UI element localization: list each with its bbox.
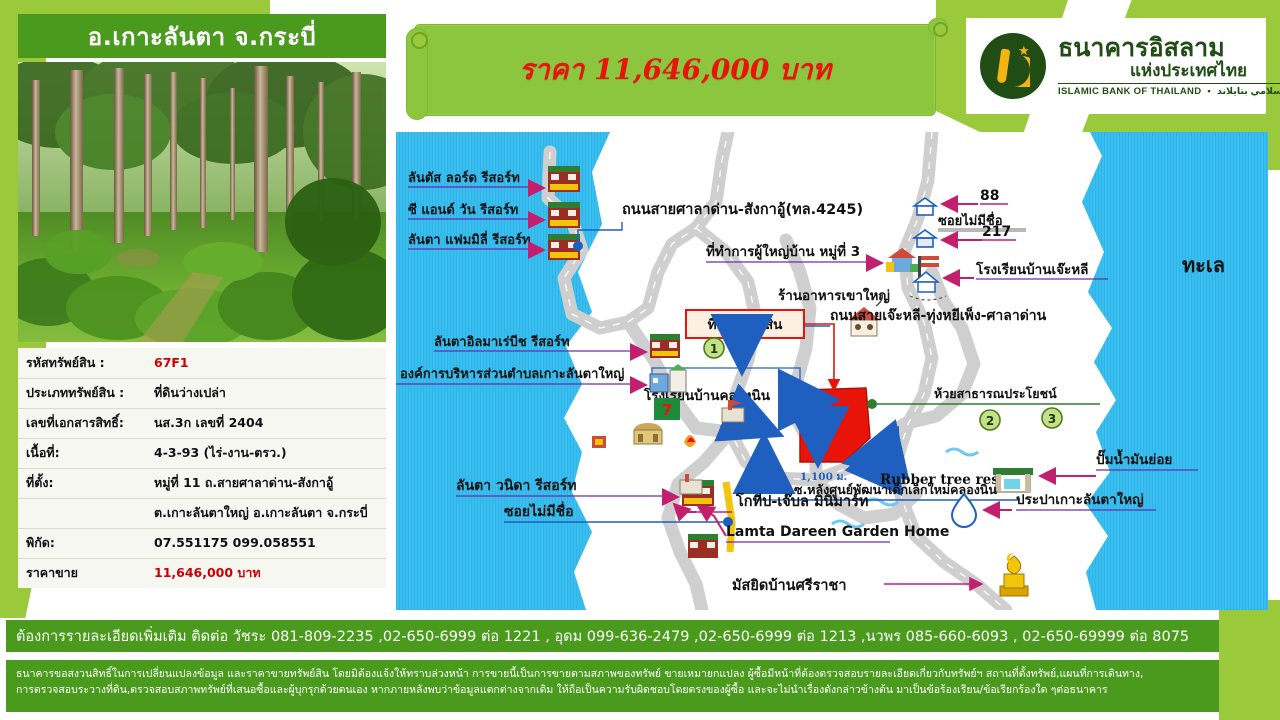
svg-text:ร้านอาหารเขาใหญ่: ร้านอาหารเขาใหญ่ [778, 287, 890, 304]
table-row: รหัสทรัพย์สิน : 67F1 [18, 348, 386, 378]
svg-text:ปั๊มน้ำมันย่อย: ปั๊มน้ำมันย่อย [1096, 449, 1172, 468]
row-value: ต.เกาะลันตาใหญ่ อ.เกาะลันตา จ.กระบี่ [146, 498, 386, 528]
islamic-bank-crescent-star-icon: ★ [980, 33, 1046, 99]
svg-text:1: 1 [760, 462, 768, 476]
disclaimer-bar: ธนาคารขอสงวนสิทธิ์ในการเปลี่ยนแปลงข้อมูล… [6, 660, 1219, 712]
svg-text:2: 2 [738, 335, 746, 349]
scroll-roll-left-icon [406, 28, 428, 120]
svg-text:ซอยไม่มีชื่อ: ซอยไม่มีชื่อ [504, 501, 574, 520]
bg-bottom-right-accent [1219, 600, 1280, 720]
svg-text:ถนนสายเจ๊ะหลี-ทุ่งหยีเพ็ง-ศาลา: ถนนสายเจ๊ะหลี-ทุ่งหยีเพ็ง-ศาลาด่าน [830, 306, 1047, 324]
bank-name-en-row: ISLAMIC BANK OF THAILAND • البنك الإسلام… [1058, 83, 1280, 97]
disclaimer-line-1: ธนาคารขอสงวนสิทธิ์ในการเปลี่ยนแปลงข้อมูล… [16, 666, 1209, 682]
table-row: ประเภททรัพย์สิน : ที่ดินว่างเปล่า [18, 378, 386, 408]
svg-text:โกทีป-เจ๊บล มินิมาร์ท: โกทีป-เจ๊บล มินิมาร์ท [735, 492, 868, 510]
table-row: เลขที่เอกสารสิทธิ์: นส.3ก เลขที่ 2404 [18, 408, 386, 438]
row-label [18, 498, 146, 528]
svg-text:4: 4 [874, 452, 882, 466]
row-value: 07.551175 099.058551 [146, 528, 386, 558]
label-public-canal: ห้วยสาธารณประโยชน์ [934, 386, 1057, 401]
bank-name-separator: • [1207, 86, 1211, 97]
svg-text:ลันตา วนิดา รีสอร์ท: ลันตา วนิดา รีสอร์ท [456, 477, 576, 494]
row-value: 4-3-93 (ไร่-งาน-ตรว.) [146, 438, 386, 468]
svg-text:ถนนสายศาลาด่าน-สังกาอู้(ทล.424: ถนนสายศาลาด่าน-สังกาอู้(ทล.4245) [622, 201, 863, 218]
svg-text:ลันตา แฟมมิลี่ รีสอร์ท: ลันตา แฟมมิลี่ รีสอร์ท [408, 230, 531, 248]
price-banner-body: ราคา 11,646,000 บาท [414, 24, 936, 116]
table-row: ที่ตั้ง: หมู่ที่ 11 ถ.สายศาลาด่าน-สังกาอ… [18, 468, 386, 498]
price-text: ราคา 11,646,000 บาท [519, 48, 831, 92]
svg-text:1: 1 [710, 342, 718, 356]
property-listing-slide: อ.เกาะลันตา จ.กระบี่ [0, 0, 1280, 720]
table-row: ราคาขาย 11,646,000 บาท [18, 558, 386, 588]
contact-bar: ต้องการรายละเอียดเพิ่มเติม ติดต่อ วัชระ … [6, 620, 1219, 652]
svg-text:7: 7 [662, 401, 672, 419]
bank-logo: ★ ธนาคารอิสลาม แห่งประเทศไทย ISLAMIC BAN… [966, 18, 1266, 114]
scroll-roll-right-icon [928, 18, 948, 36]
row-label: ที่ตั้ง: [18, 468, 146, 498]
disclaimer-line-2: การตรวจสอบระวางที่ดิน,ตรวจสอบสภาพทรัพย์ท… [16, 682, 1209, 698]
row-label: พิกัด: [18, 528, 146, 558]
svg-text:ประปาเกาะลันตาใหญ่: ประปาเกาะลันตาใหญ่ [1016, 491, 1144, 508]
row-value: ที่ดินว่างเปล่า [146, 378, 386, 408]
row-label: เลขที่เอกสารสิทธิ์: [18, 408, 146, 438]
row-label: ราคาขาย [18, 558, 146, 588]
svg-text:ลันตัส ลอร์ด รีสอร์ท: ลันตัส ลอร์ด รีสอร์ท [408, 170, 520, 186]
row-value: หมู่ที่ 11 ถ.สายศาลาด่าน-สังกาอู้ [146, 468, 386, 498]
bank-name-th-line2: แห่งประเทศไทย [1058, 61, 1280, 81]
svg-text:Lamta Dareen Garden Home: Lamta Dareen Garden Home [726, 524, 949, 540]
distance-note: 1,100 ม. [800, 471, 847, 483]
table-row: พิกัด: 07.551175 099.058551 [18, 528, 386, 558]
table-row: ต.เกาะลันตาใหญ่ อ.เกาะลันตา จ.กระบี่ [18, 498, 386, 528]
row-label: รหัสทรัพย์สิน : [18, 348, 146, 378]
svg-text:88: 88 [980, 188, 999, 204]
row-label: ประเภททรัพย์สิน : [18, 378, 146, 408]
price-banner: ราคา 11,646,000 บาท [402, 16, 948, 122]
svg-text:3: 3 [1048, 412, 1056, 426]
location-map[interactable]: ทะเล [396, 132, 1268, 610]
canal-node [867, 399, 877, 409]
property-photo [18, 62, 386, 342]
svg-text:5: 5 [795, 394, 803, 408]
bank-name-en: ISLAMIC BANK OF THAILAND [1058, 86, 1201, 97]
property-details-table: รหัสทรัพย์สิน : 67F1 ประเภททรัพย์สิน : ท… [18, 348, 386, 588]
row-value: นส.3ก เลขที่ 2404 [146, 408, 386, 438]
contact-text: ต้องการรายละเอียดเพิ่มเติม ติดต่อ วัชระ … [16, 625, 1189, 648]
map-graphic: ทะเล [396, 132, 1268, 610]
rubber-plantation-illustration [18, 62, 386, 342]
svg-text:ลันตาอิลมาเร่บีช รีสอร์ท: ลันตาอิลมาเร่บีช รีสอร์ท [434, 334, 570, 350]
page-title: อ.เกาะลันตา จ.กระบี่ [88, 17, 316, 56]
svg-text:องค์การบริหารส่วนตำบลเกาะลันตา: องค์การบริหารส่วนตำบลเกาะลันตาใหญ่ [400, 365, 624, 382]
svg-text:ที่ทำการผู้ใหญ่บ้าน หมู่ที่ 3: ที่ทำการผู้ใหญ่บ้าน หมู่ที่ 3 [706, 241, 860, 260]
row-label: เนื้อที่: [18, 438, 146, 468]
sea-label: ทะเล [1182, 253, 1225, 277]
svg-text:217: 217 [982, 224, 1011, 240]
bank-name-th-line1: ธนาคารอิสลาม [1058, 35, 1280, 61]
sea-east [1082, 132, 1268, 610]
svg-text:2: 2 [986, 414, 994, 428]
logo-star-icon: ★ [1018, 44, 1030, 57]
table-row: เนื้อที่: 4-3-93 (ไร่-งาน-ตรว.) [18, 438, 386, 468]
row-value: 67F1 [146, 348, 386, 378]
svg-text:ที่ตั้งทรัพย์สิน: ที่ตั้งทรัพย์สิน [708, 314, 783, 333]
bank-name-ar: البنك الإسلامي بتايلاند [1217, 86, 1280, 97]
svg-text:โรงเรียนบ้านเจ๊ะหลี: โรงเรียนบ้านเจ๊ะหลี [975, 260, 1088, 278]
location-title-bar: อ.เกาะลันตา จ.กระบี่ [18, 14, 386, 58]
svg-text:มัสยิดบ้านศรีราชา: มัสยิดบ้านศรีราชา [732, 577, 847, 594]
logo-crescent-icon [996, 53, 1030, 87]
row-value: 11,646,000 บาท [146, 558, 386, 588]
bank-logo-text: ธนาคารอิสลาม แห่งประเทศไทย ISLAMIC BANK … [1058, 35, 1280, 98]
svg-text:ซี แอนด์ วัน รีสอร์ท: ซี แอนด์ วัน รีสอร์ท [408, 202, 518, 218]
